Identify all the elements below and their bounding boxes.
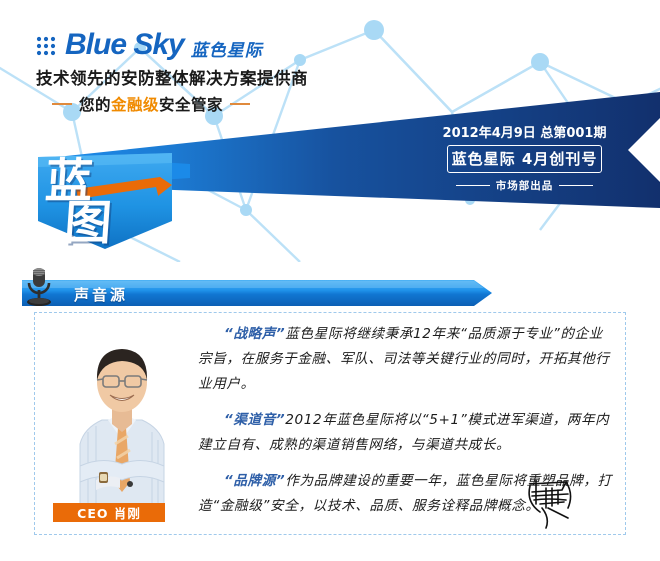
brand-name-cn: 蓝色星际	[191, 36, 263, 61]
tagline-rule-left	[52, 103, 72, 105]
issue-date: 2012年4月9日 总第001期	[432, 122, 617, 141]
ceo-portrait-photo	[56, 332, 188, 504]
issue-date-plate: 2012年4月9日 总第001期 蓝色星际 4月创刊号 市场部出品	[432, 122, 617, 193]
tagline-highlight: 金融级	[111, 96, 159, 114]
lantu-shield-text: 蓝 图	[41, 162, 117, 244]
handwritten-signature	[522, 474, 580, 532]
microphone-icon	[22, 266, 56, 310]
section-title: 声音源	[74, 284, 128, 305]
tagline-suffix: 安全管家	[159, 96, 223, 114]
tagline-prefix: 您的	[79, 96, 111, 114]
dept-rule-left	[456, 185, 490, 186]
issue-department-row: 市场部出品	[432, 178, 617, 193]
issue-title: 蓝色星际 4月创刊号	[452, 150, 598, 168]
brand-logo: Blue Sky 蓝色星际 技术领先的安防整体解决方案提供商 您的金融级安全管家	[36, 28, 336, 115]
brand-logo-line: Blue Sky 蓝色星际	[36, 28, 336, 62]
newsletter-page: Blue Sky 蓝色星际 技术领先的安防整体解决方案提供商 您的金融级安全管家…	[0, 0, 660, 561]
tagline-rule-right	[230, 103, 250, 105]
paragraph-lead: “品牌源”	[224, 473, 285, 489]
brand-name-en: Blue Sky	[65, 30, 184, 60]
issue-department: 市场部出品	[496, 178, 554, 193]
dept-rule-right	[559, 185, 593, 186]
brand-tagline-primary: 技术领先的安防整体解决方案提供商	[36, 65, 336, 89]
paragraph-lead: “渠道音”	[224, 412, 285, 428]
lantu-char-2: 图	[63, 204, 114, 244]
banner-header: Blue Sky 蓝色星际 技术领先的安防整体解决方案提供商 您的金融级安全管家…	[0, 0, 660, 262]
dot-matrix-icon	[36, 35, 60, 57]
article-paragraph: “渠道音”2012年蓝色星际将以“5+1”模式进军渠道，两年内建立自有、成熟的渠…	[198, 408, 616, 458]
brand-tagline-secondary: 您的金融级安全管家	[36, 93, 336, 115]
issue-title-box: 蓝色星际 4月创刊号	[447, 145, 603, 173]
paragraph-lead: “战略声”	[224, 326, 285, 342]
article-paragraph: “战略声”蓝色星际将继续秉承12年来“品质源于专业”的企业宗旨，在服务于金融、军…	[198, 322, 616, 397]
ceo-caption: CEO 肖刚	[53, 503, 165, 522]
